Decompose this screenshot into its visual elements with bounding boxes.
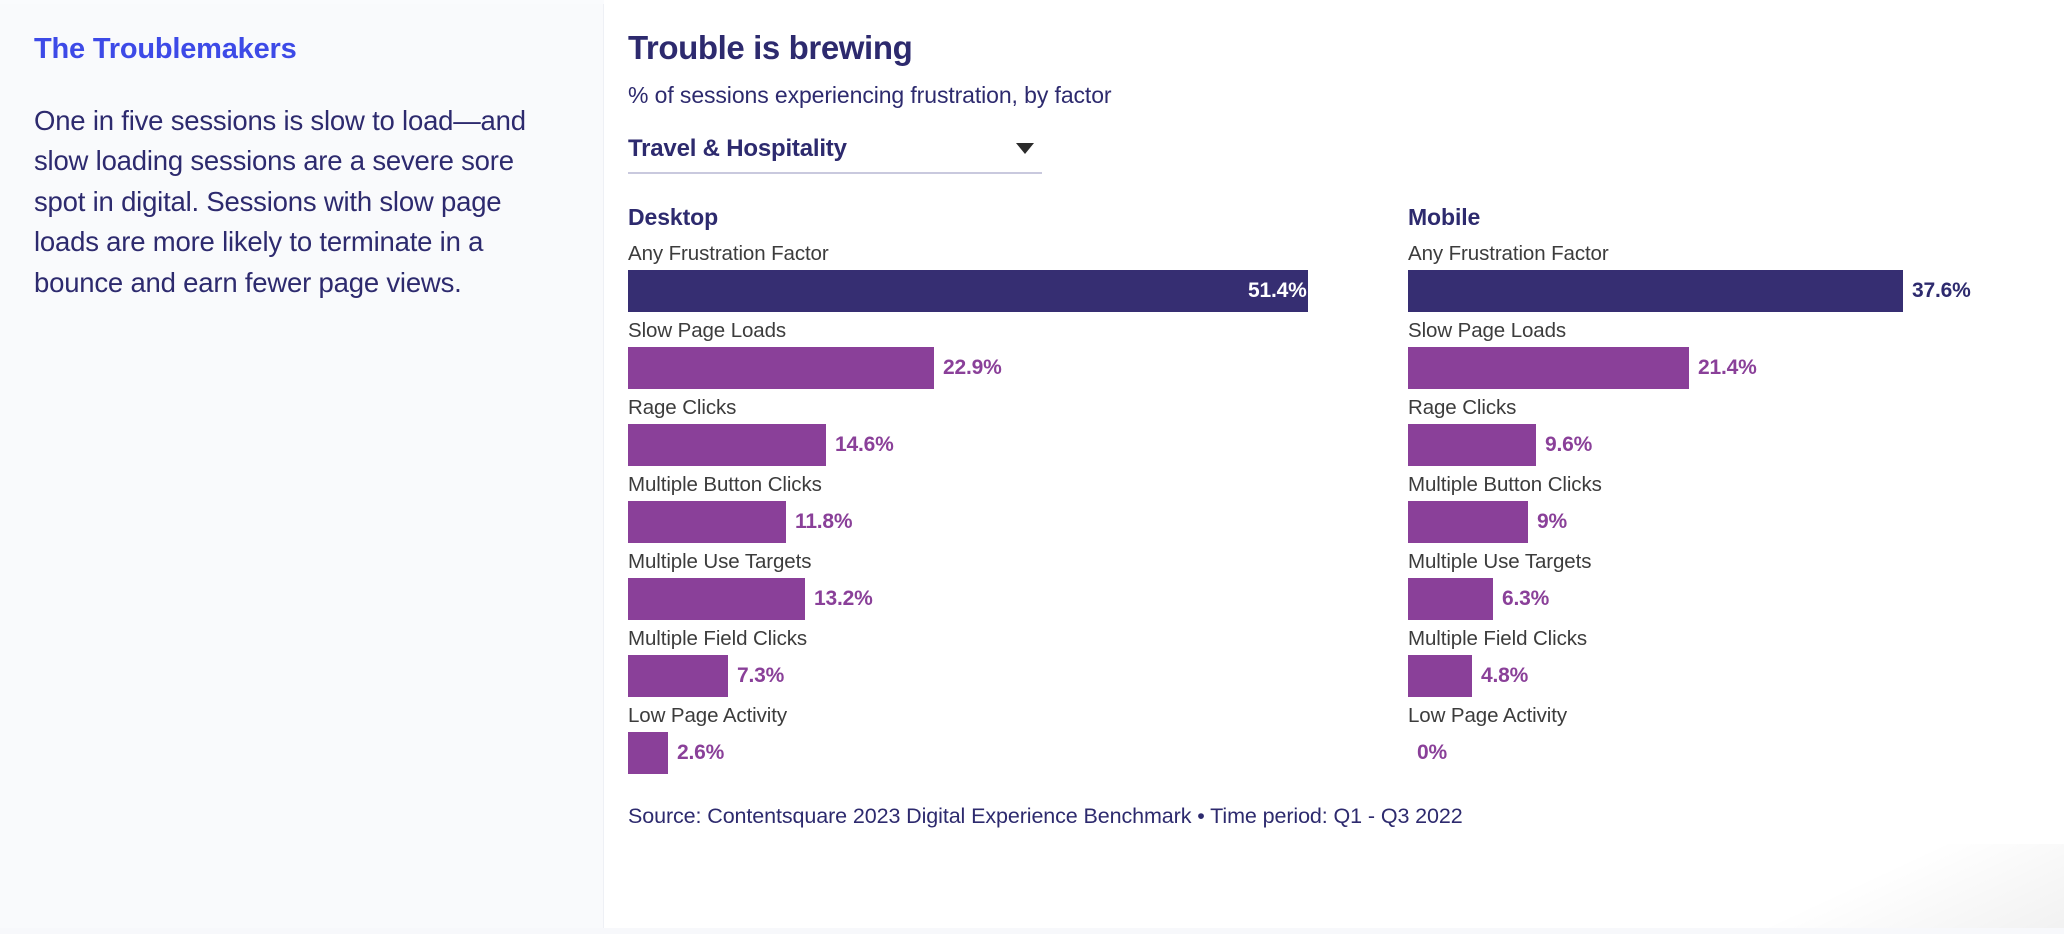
- bar-fill: [1408, 347, 1689, 389]
- bar-track: 6.3%: [1408, 578, 2064, 620]
- bar-fill: [1408, 270, 1903, 312]
- bar-row: Low Page Activity 0%: [1408, 703, 2064, 774]
- bar-track: 2.6%: [628, 732, 1358, 774]
- column-heading-desktop: Desktop: [628, 204, 1358, 231]
- source-note: Source: Contentsquare 2023 Digital Exper…: [628, 804, 2064, 829]
- chart-column-desktop: Desktop Any Frustration Factor 51.4% Slo…: [628, 204, 1358, 780]
- industry-filter-dropdown[interactable]: Travel & Hospitality: [628, 135, 1042, 174]
- chart-columns: Desktop Any Frustration Factor 51.4% Slo…: [628, 204, 2064, 780]
- column-heading-mobile: Mobile: [1408, 204, 2064, 231]
- bar-track: 22.9%: [628, 347, 1358, 389]
- bar-row: Rage Clicks 14.6%: [628, 395, 1358, 466]
- bar-label: Multiple Field Clicks: [628, 626, 1358, 652]
- bar-label: Multiple Use Targets: [1408, 549, 2064, 575]
- bar-row: Multiple Field Clicks 4.8%: [1408, 626, 2064, 697]
- bar-fill: [1408, 655, 1472, 697]
- narrative-panel: The Troublemakers One in five sessions i…: [0, 0, 604, 934]
- bar-track: 9%: [1408, 501, 2064, 543]
- bar-fill: [628, 270, 1308, 312]
- bar-label: Low Page Activity: [628, 703, 1358, 729]
- chart-title: Trouble is brewing: [628, 28, 2064, 68]
- bar-track: 21.4%: [1408, 347, 2064, 389]
- bar-value: 9.6%: [1545, 433, 1592, 457]
- bar-value: 0%: [1417, 741, 1447, 765]
- bar-row: Slow Page Loads 22.9%: [628, 318, 1358, 389]
- bar-track: 51.4%: [628, 270, 1358, 312]
- bar-fill: [628, 732, 668, 774]
- bar-track: 11.8%: [628, 501, 1358, 543]
- bar-fill: [1408, 501, 1528, 543]
- bar-value: 4.8%: [1481, 664, 1528, 688]
- bar-label: Slow Page Loads: [1408, 318, 2064, 344]
- bar-track: 0%: [1408, 732, 2064, 774]
- bar-track: 37.6%: [1408, 270, 2064, 312]
- bar-value: 6.3%: [1502, 587, 1549, 611]
- bar-row: Any Frustration Factor 37.6%: [1408, 241, 2064, 312]
- bar-track: 13.2%: [628, 578, 1358, 620]
- bar-track: 4.8%: [1408, 655, 2064, 697]
- bar-row: Multiple Button Clicks 11.8%: [628, 472, 1358, 543]
- bar-label: Multiple Button Clicks: [628, 472, 1358, 498]
- chevron-down-icon: [1016, 143, 1034, 154]
- bar-row: Multiple Field Clicks 7.3%: [628, 626, 1358, 697]
- bar-row: Slow Page Loads 21.4%: [1408, 318, 2064, 389]
- bar-row: Multiple Use Targets 13.2%: [628, 549, 1358, 620]
- bar-label: Any Frustration Factor: [1408, 241, 2064, 267]
- chart-panel: Trouble is brewing % of sessions experie…: [604, 0, 2064, 934]
- bar-track: 7.3%: [628, 655, 1358, 697]
- report-page: The Troublemakers One in five sessions i…: [0, 0, 2064, 934]
- bar-fill: [1408, 424, 1536, 466]
- bar-value: 9%: [1537, 510, 1567, 534]
- bar-fill: [628, 578, 805, 620]
- bar-row: Rage Clicks 9.6%: [1408, 395, 2064, 466]
- bar-label: Any Frustration Factor: [628, 241, 1358, 267]
- bar-label: Rage Clicks: [1408, 395, 2064, 421]
- bar-label: Low Page Activity: [1408, 703, 2064, 729]
- bar-value: 7.3%: [737, 664, 784, 688]
- bar-value: 22.9%: [943, 356, 1002, 380]
- bar-value: 11.8%: [795, 510, 852, 534]
- bar-value: 51.4%: [1248, 279, 1307, 303]
- bar-track: 14.6%: [628, 424, 1358, 466]
- bar-label: Slow Page Loads: [628, 318, 1358, 344]
- bar-value: 21.4%: [1698, 356, 1757, 380]
- chart-column-mobile: Mobile Any Frustration Factor 37.6% Slow…: [1408, 204, 2064, 780]
- bar-fill: [628, 347, 934, 389]
- bar-label: Rage Clicks: [628, 395, 1358, 421]
- bar-fill: [628, 424, 826, 466]
- bar-value: 13.2%: [814, 587, 873, 611]
- bar-value: 2.6%: [677, 741, 724, 765]
- bar-value: 37.6%: [1912, 279, 1971, 303]
- narrative-title: The Troublemakers: [34, 32, 569, 67]
- bar-track: 9.6%: [1408, 424, 2064, 466]
- bar-fill: [628, 655, 728, 697]
- bar-row: Multiple Button Clicks 9%: [1408, 472, 2064, 543]
- bar-value: 14.6%: [835, 433, 894, 457]
- narrative-body: One in five sessions is slow to load—and…: [34, 101, 554, 304]
- bar-row: Multiple Use Targets 6.3%: [1408, 549, 2064, 620]
- bar-label: Multiple Field Clicks: [1408, 626, 2064, 652]
- bar-row: Low Page Activity 2.6%: [628, 703, 1358, 774]
- bar-label: Multiple Use Targets: [628, 549, 1358, 575]
- bar-fill: [1408, 578, 1493, 620]
- industry-filter-value: Travel & Hospitality: [628, 135, 847, 163]
- bar-fill: [628, 501, 786, 543]
- chart-subtitle: % of sessions experiencing frustration, …: [628, 82, 2064, 109]
- bar-label: Multiple Button Clicks: [1408, 472, 2064, 498]
- bar-row: Any Frustration Factor 51.4%: [628, 241, 1358, 312]
